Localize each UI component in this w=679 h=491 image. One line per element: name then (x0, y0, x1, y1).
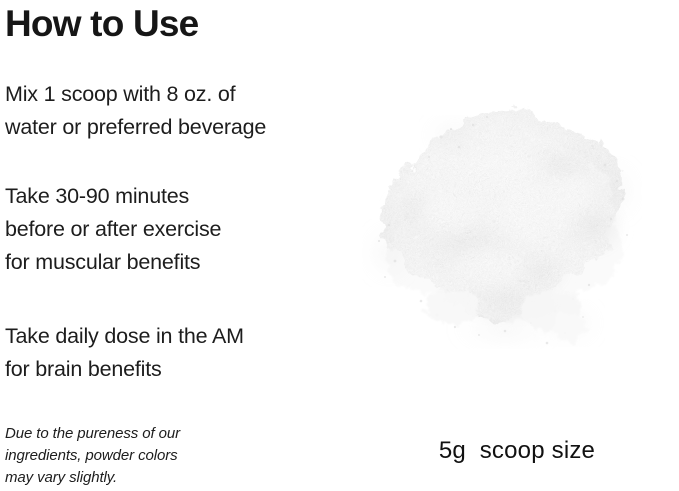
instruction-block-mix: Mix 1 scoop with 8 oz. of water or prefe… (5, 78, 350, 144)
instruction-line: Take 30-90 minutes (5, 180, 350, 213)
page-title: How to Use (5, 2, 198, 46)
instruction-line: for brain benefits (5, 353, 350, 386)
disclaimer-line: may vary slightly. (5, 467, 235, 489)
instruction-line: Mix 1 scoop with 8 oz. of (5, 78, 350, 111)
disclaimer-text: Due to the pureness of our ingredients, … (5, 423, 235, 489)
instruction-block-daily-dose: Take daily dose in the AM for brain bene… (5, 320, 350, 386)
instruction-line: before or after exercise (5, 213, 350, 246)
disclaimer-line: ingredients, powder colors (5, 445, 235, 467)
instruction-line: for muscular benefits (5, 246, 350, 279)
disclaimer-line: Due to the pureness of our (5, 423, 235, 445)
product-image-column: 5g scoop size (355, 0, 679, 491)
instruction-line: water or preferred beverage (5, 111, 350, 144)
instruction-line: Take daily dose in the AM (5, 320, 350, 353)
instruction-block-timing: Take 30-90 minutes before or after exerc… (5, 180, 350, 279)
instructions-column: How to Use Mix 1 scoop with 8 oz. of wat… (5, 0, 355, 491)
product-usage-panel: How to Use Mix 1 scoop with 8 oz. of wat… (0, 0, 679, 491)
scoop-size-caption: 5g scoop size (355, 437, 679, 465)
powder-pile-graphic (355, 95, 665, 365)
powder-pile-image (355, 95, 665, 365)
